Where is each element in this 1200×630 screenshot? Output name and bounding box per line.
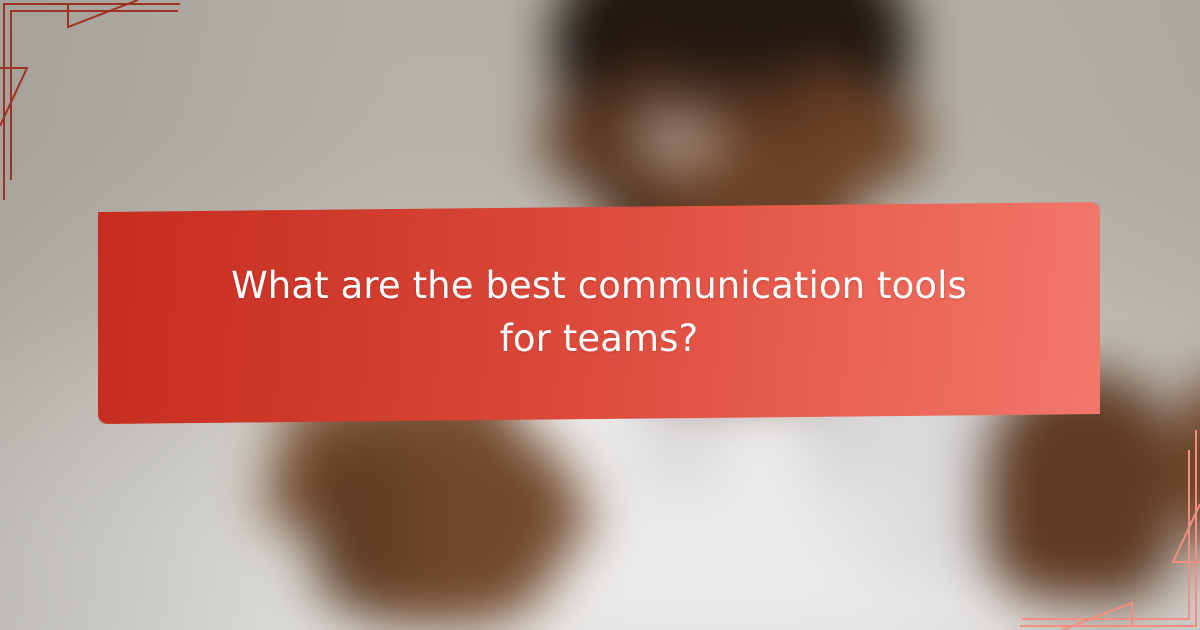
headline-banner-text-area: What are the best communication tools fo… bbox=[98, 202, 1100, 424]
social-card: What are the best communication tools fo… bbox=[0, 0, 1200, 630]
headline-banner-wrapper: What are the best communication tools fo… bbox=[0, 0, 1200, 630]
page-title: What are the best communication tools fo… bbox=[218, 260, 980, 365]
